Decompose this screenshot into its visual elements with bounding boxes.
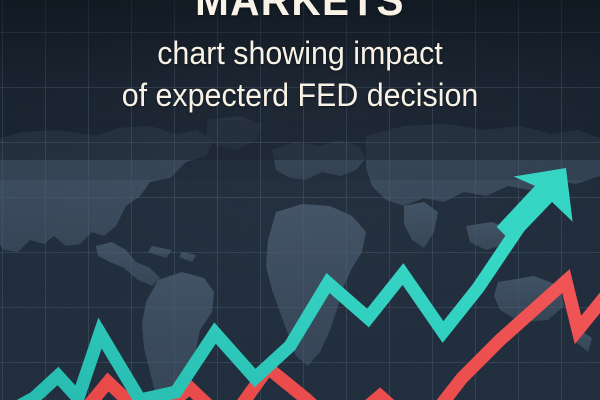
poster-text-block: MARKETS chart showing impact of expecter… — [0, 0, 600, 116]
page-title: MARKETS — [24, 0, 576, 24]
subtitle-line-2: of expecterd FED decision — [15, 74, 585, 116]
series-red-uptrend — [60, 281, 600, 400]
subtitle-line-1: chart showing impact — [15, 32, 585, 74]
series-teal-uptrend — [0, 196, 540, 400]
market-chart-poster: MARKETS chart showing impact of expecter… — [0, 0, 600, 400]
arrow-up-right-icon — [491, 168, 575, 245]
